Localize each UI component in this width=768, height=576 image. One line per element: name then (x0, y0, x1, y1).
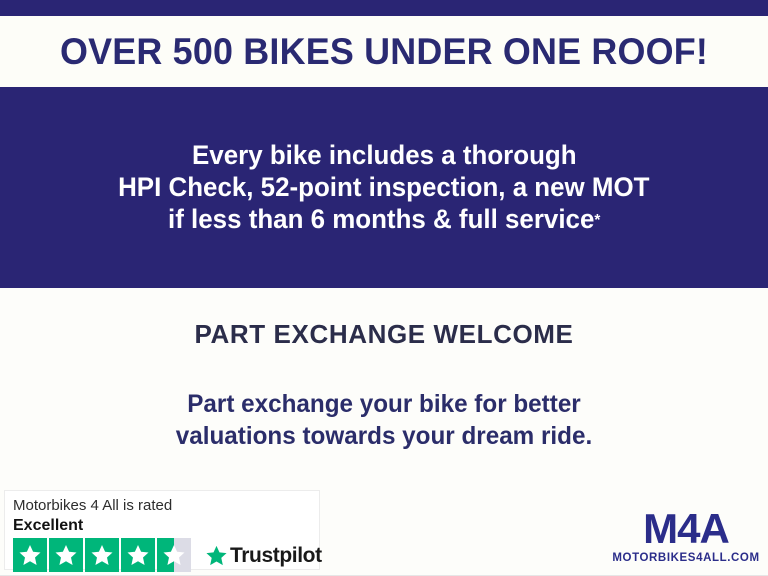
part-exchange-line-1: Part exchange your bike for better (12, 388, 757, 420)
star-icon (13, 538, 47, 572)
feature-line-3: if less than 6 months & full service* (168, 203, 600, 237)
top-accent-strip (0, 0, 768, 16)
part-exchange-body: Part exchange your bike for better valua… (0, 388, 768, 452)
trustpilot-widget[interactable]: Motorbikes 4 All is rated Excellent (4, 490, 320, 570)
trustpilot-score-label: Excellent (13, 516, 319, 535)
star-icon (121, 538, 155, 572)
star-half-icon (157, 538, 191, 572)
promo-banner: OVER 500 BIKES UNDER ONE ROOF! Every bik… (0, 0, 768, 576)
footnote-asterisk: * (594, 212, 600, 229)
feature-line-2: HPI Check, 52-point inspection, a new MO… (118, 171, 649, 203)
feature-line-3-text: if less than 6 months & full service (168, 204, 594, 234)
feature-band: Every bike includes a thorough HPI Check… (0, 87, 768, 288)
star-icon (49, 538, 83, 572)
trustpilot-rating-row: Trustpilot (13, 538, 319, 572)
part-exchange-heading: PART EXCHANGE WELCOME (0, 319, 768, 350)
page-title: OVER 500 BIKES UNDER ONE ROOF! (60, 33, 708, 70)
headline-band: OVER 500 BIKES UNDER ONE ROOF! (0, 16, 768, 87)
logo-domain: MOTORBIKES4ALL.COM (612, 551, 760, 565)
feature-line-1: Every bike includes a thorough (192, 139, 577, 171)
logo-mark: M4A (612, 508, 760, 550)
star-icon (85, 538, 119, 572)
trustpilot-logo[interactable]: Trustpilot (205, 544, 322, 567)
company-logo[interactable]: M4A MOTORBIKES4ALL.COM (612, 508, 760, 565)
trustpilot-wordmark: Trustpilot (230, 545, 322, 566)
trustpilot-rated-text: Motorbikes 4 All is rated (13, 497, 319, 515)
trustpilot-star-icon (205, 544, 228, 567)
trustpilot-star-rating (13, 538, 191, 572)
part-exchange-line-2: valuations towards your dream ride. (12, 420, 757, 452)
